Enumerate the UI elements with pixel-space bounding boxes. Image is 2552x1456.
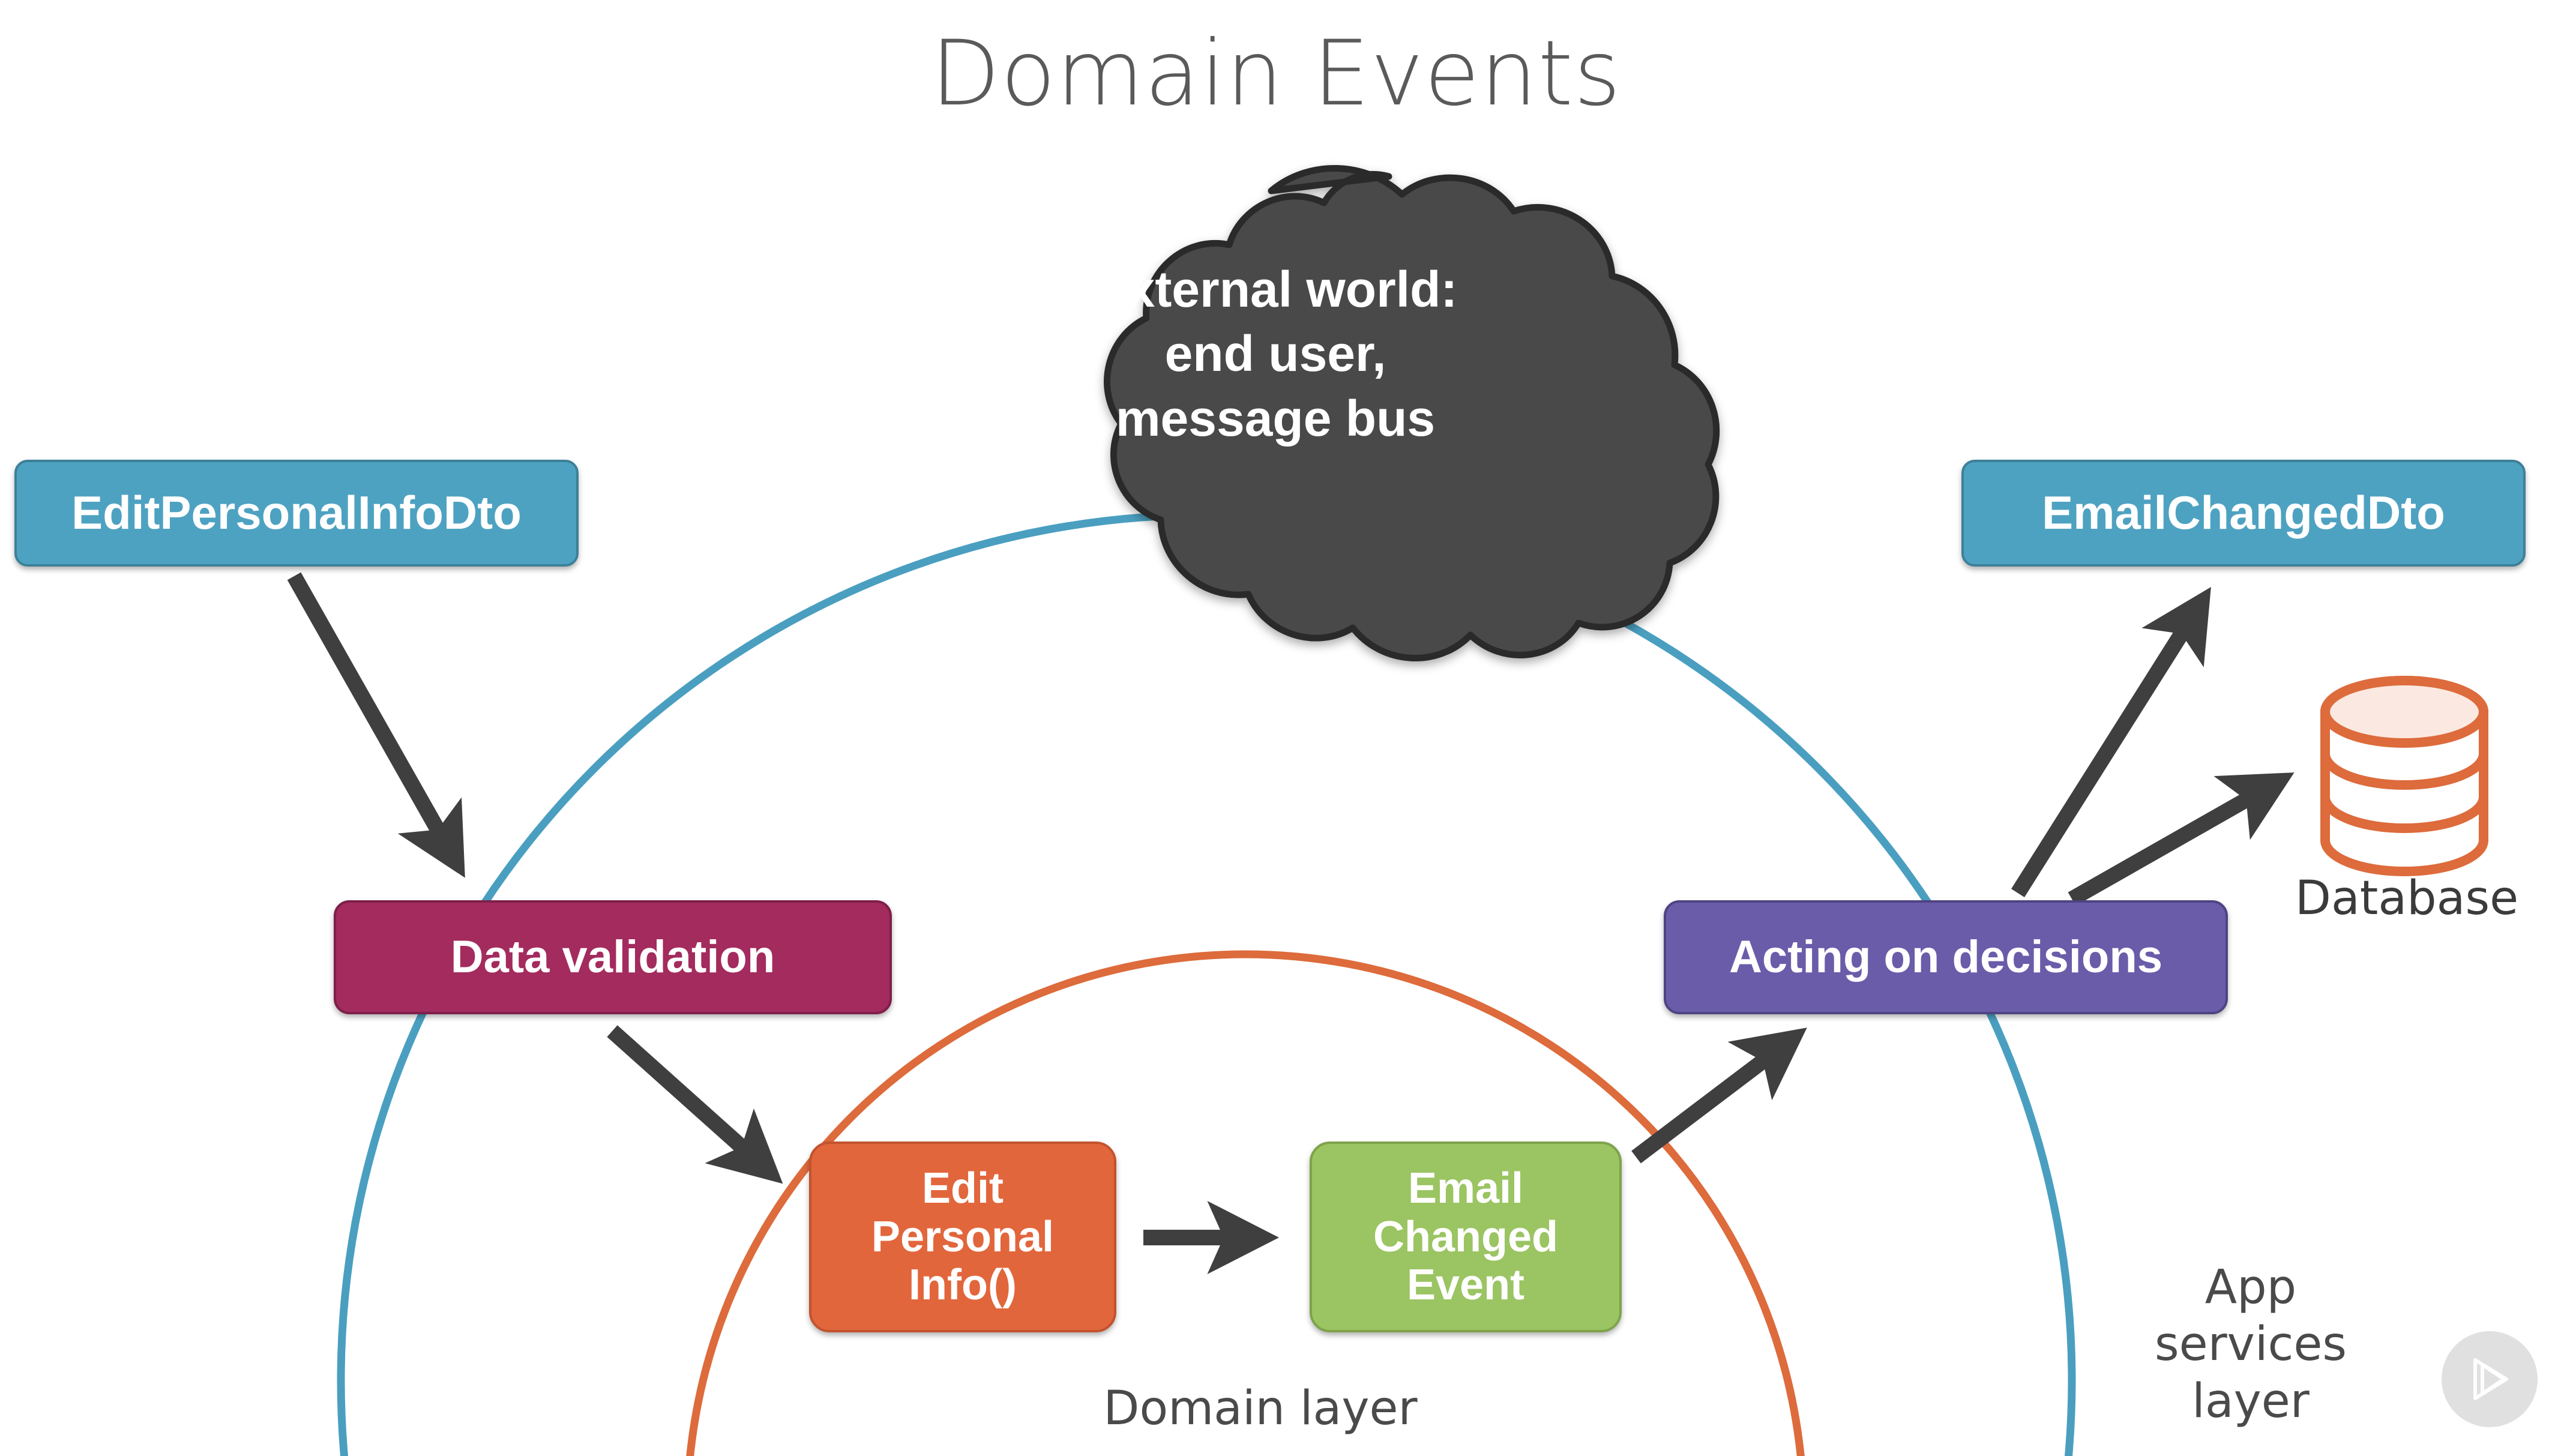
event-line-1: Email	[1408, 1164, 1523, 1212]
edit-line-1: Edit	[922, 1164, 1004, 1212]
database-icon	[2325, 681, 2484, 871]
domain-layer-caption: Domain layer	[936, 1380, 1584, 1437]
app-services-layer-caption: App services layer	[2089, 1259, 2413, 1430]
event-line-2: Changed	[1373, 1213, 1558, 1261]
app-layer-line-2: services	[2155, 1317, 2347, 1371]
node-data-validation[interactable]: Data validation	[334, 900, 892, 1014]
play-outline-icon	[2458, 1348, 2521, 1410]
cloud-line-1: External world:	[1094, 257, 1458, 322]
node-edit-personal-info-dto[interactable]: EditPersonalInfoDto	[14, 460, 579, 567]
node-edit-personal-info-method-label: Edit Personal Info()	[868, 1164, 1058, 1310]
node-acting-on-decisions-label: Acting on decisions	[1726, 931, 2166, 982]
node-email-changed-dto[interactable]: EmailChangedDto	[1961, 460, 2526, 567]
node-edit-personal-info-method[interactable]: Edit Personal Info()	[809, 1142, 1116, 1332]
arrow-email-changed-event-to-acting	[1636, 1037, 1795, 1157]
arrow-dto-left-to-validation	[294, 576, 457, 864]
edit-line-2: Personal	[871, 1213, 1054, 1261]
event-line-3: Event	[1407, 1261, 1524, 1309]
cloud-line-3: message bus	[1116, 387, 1435, 451]
arrow-validation-to-edit-personal-info	[612, 1031, 771, 1173]
node-email-changed-event-label: Email Changed Event	[1370, 1164, 1562, 1310]
node-email-changed-dto-label: EmailChangedDto	[2038, 487, 2449, 539]
node-acting-on-decisions[interactable]: Acting on decisions	[1664, 900, 2228, 1014]
play-watermark[interactable]	[2442, 1331, 2538, 1427]
edit-line-3: Info()	[909, 1261, 1017, 1309]
page-title: Domain Events	[0, 22, 2552, 126]
node-email-changed-event[interactable]: Email Changed Event	[1310, 1142, 1622, 1332]
external-world-cloud: External world: end user, message bus	[906, 174, 1645, 534]
cloud-line-2: end user,	[1165, 322, 1386, 387]
app-layer-line-3: layer	[2192, 1374, 2310, 1428]
node-data-validation-label: Data validation	[447, 931, 779, 982]
arrow-acting-to-database	[2072, 780, 2281, 899]
database-label: Database	[2275, 871, 2539, 925]
diagram-canvas: Domain Events External world: end user, …	[0, 0, 2552, 1456]
node-edit-personal-info-dto-label: EditPersonalInfoDto	[68, 487, 525, 539]
app-layer-line-1: App	[2205, 1260, 2296, 1314]
external-world-cloud-text: External world: end user, message bus	[906, 174, 1645, 534]
